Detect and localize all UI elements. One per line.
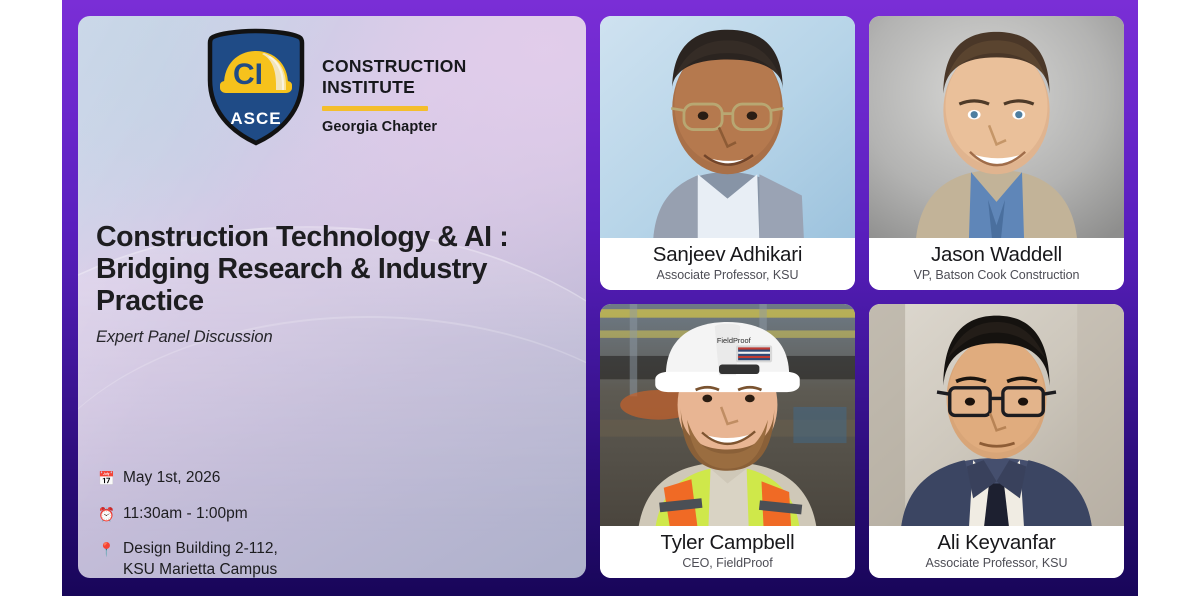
speaker-caption: Ali Keyvanfar Associate Professor, KSU bbox=[869, 526, 1124, 578]
event-date-text: May 1st, 2026 bbox=[123, 468, 220, 489]
clock-icon: ⏰ bbox=[98, 505, 114, 525]
svg-text:FieldProof: FieldProof bbox=[717, 336, 752, 345]
location-pin-icon: 📍 bbox=[98, 540, 114, 560]
logo-chapter-label: Georgia Chapter bbox=[322, 119, 467, 135]
calendar-icon: 📅 bbox=[98, 469, 114, 489]
event-detail-date: 📅 May 1st, 2026 bbox=[98, 468, 428, 489]
event-detail-location: 📍 Design Building 2-112, KSU Marietta Ca… bbox=[98, 539, 428, 578]
asce-construction-institute-shield-logo: CI ASCE bbox=[206, 28, 306, 146]
speaker-card[interactable]: Ali Keyvanfar Associate Professor, KSU bbox=[869, 304, 1124, 578]
speaker-role: Associate Professor, KSU bbox=[873, 556, 1120, 570]
speaker-name: Sanjeev Adhikari bbox=[604, 243, 851, 267]
event-headline-block: Construction Technology & AI : Bridging … bbox=[96, 221, 566, 347]
speaker-card[interactable]: Sanjeev Adhikari Associate Professor, KS… bbox=[600, 16, 855, 290]
speaker-role: CEO, FieldProof bbox=[604, 556, 851, 570]
event-details-block: 📅 May 1st, 2026 ⏰ 11:30am - 1:00pm 📍 Des… bbox=[98, 468, 428, 578]
speaker-card[interactable]: FieldProof Tyler Campbell CEO, FieldProo… bbox=[600, 304, 855, 578]
speaker-role: VP, Batson Cook Construction bbox=[873, 268, 1120, 282]
speaker-role: Associate Professor, KSU bbox=[604, 268, 851, 282]
svg-text:CI: CI bbox=[233, 58, 263, 91]
logo-wordmark: CONSTRUCTION INSTITUTE Georgia Chapter bbox=[322, 28, 467, 135]
speaker-card[interactable]: Jason Waddell VP, Batson Cook Constructi… bbox=[869, 16, 1124, 290]
speaker-caption: Tyler Campbell CEO, FieldProof bbox=[600, 526, 855, 578]
event-location-text: Design Building 2-112, KSU Marietta Camp… bbox=[123, 539, 278, 578]
logo-wordmark-line-two: INSTITUTE bbox=[322, 77, 467, 98]
event-info-panel: CI ASCE CONSTRUCTION INSTITUTE Georgia C… bbox=[78, 16, 586, 578]
speaker-name: Jason Waddell bbox=[873, 243, 1120, 267]
event-detail-time: ⏰ 11:30am - 1:00pm bbox=[98, 504, 428, 525]
svg-text:ASCE: ASCE bbox=[230, 109, 281, 128]
event-title: Construction Technology & AI : Bridging … bbox=[96, 221, 566, 318]
event-flyer-frame: CI ASCE CONSTRUCTION INSTITUTE Georgia C… bbox=[62, 0, 1138, 596]
logo-wordmark-line-one: CONSTRUCTION bbox=[322, 56, 467, 77]
headshot-jason-waddell bbox=[869, 16, 1124, 238]
speaker-name: Ali Keyvanfar bbox=[873, 531, 1120, 555]
event-time-text: 11:30am - 1:00pm bbox=[123, 504, 248, 525]
headshot-ali-keyvanfar bbox=[869, 304, 1124, 526]
speaker-caption: Jason Waddell VP, Batson Cook Constructi… bbox=[869, 238, 1124, 290]
event-subtitle: Expert Panel Discussion bbox=[96, 328, 566, 347]
logo-accent-rule bbox=[322, 106, 428, 111]
organization-logo-lockup: CI ASCE CONSTRUCTION INSTITUTE Georgia C… bbox=[206, 28, 467, 146]
headshot-sanjeev-adhikari bbox=[600, 16, 855, 238]
speaker-name: Tyler Campbell bbox=[604, 531, 851, 555]
speaker-caption: Sanjeev Adhikari Associate Professor, KS… bbox=[600, 238, 855, 290]
headshot-tyler-campbell: FieldProof bbox=[600, 304, 855, 526]
speaker-grid: Sanjeev Adhikari Associate Professor, KS… bbox=[600, 16, 1124, 578]
